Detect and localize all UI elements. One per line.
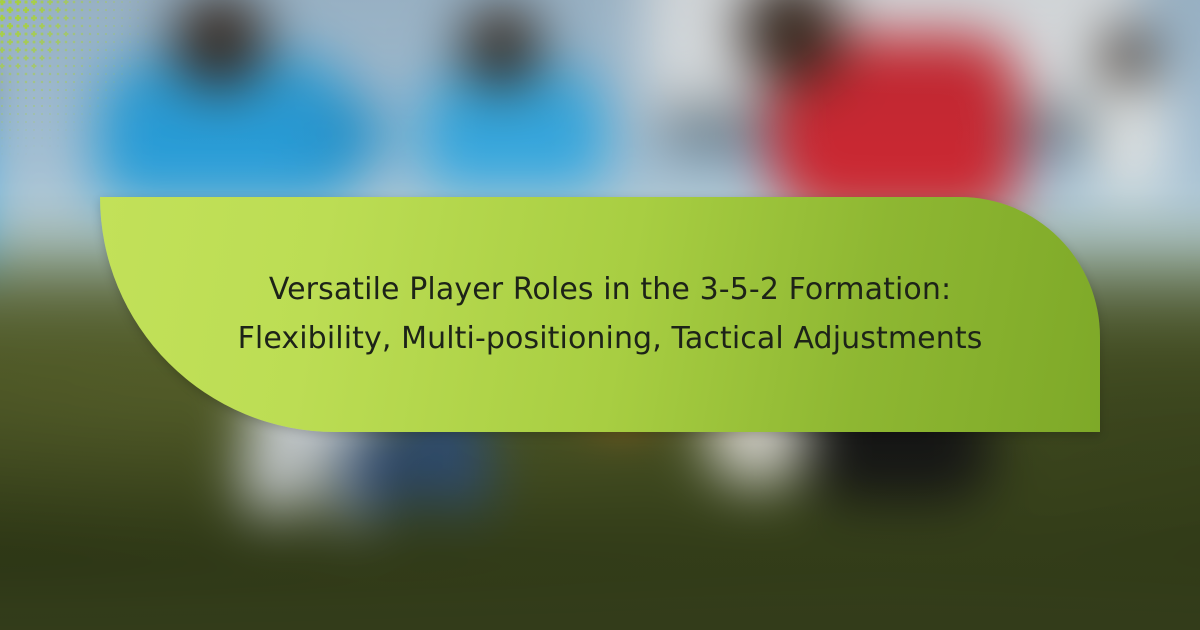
background-player-one-arm [303,98,388,172]
background-player-two-head [460,4,543,89]
title-banner: Versatile Player Roles in the 3-5-2 Form… [100,197,1100,432]
social-card: Versatile Player Roles in the 3-5-2 Form… [0,0,1200,630]
page-title-line-2: Flexibility, Multi-positioning, Tactical… [238,315,983,364]
background-player-four-head [1100,29,1155,84]
page-title: Versatile Player Roles in the 3-5-2 Form… [108,266,1093,363]
page-title-line-1: Versatile Player Roles in the 3-5-2 Form… [238,266,983,315]
